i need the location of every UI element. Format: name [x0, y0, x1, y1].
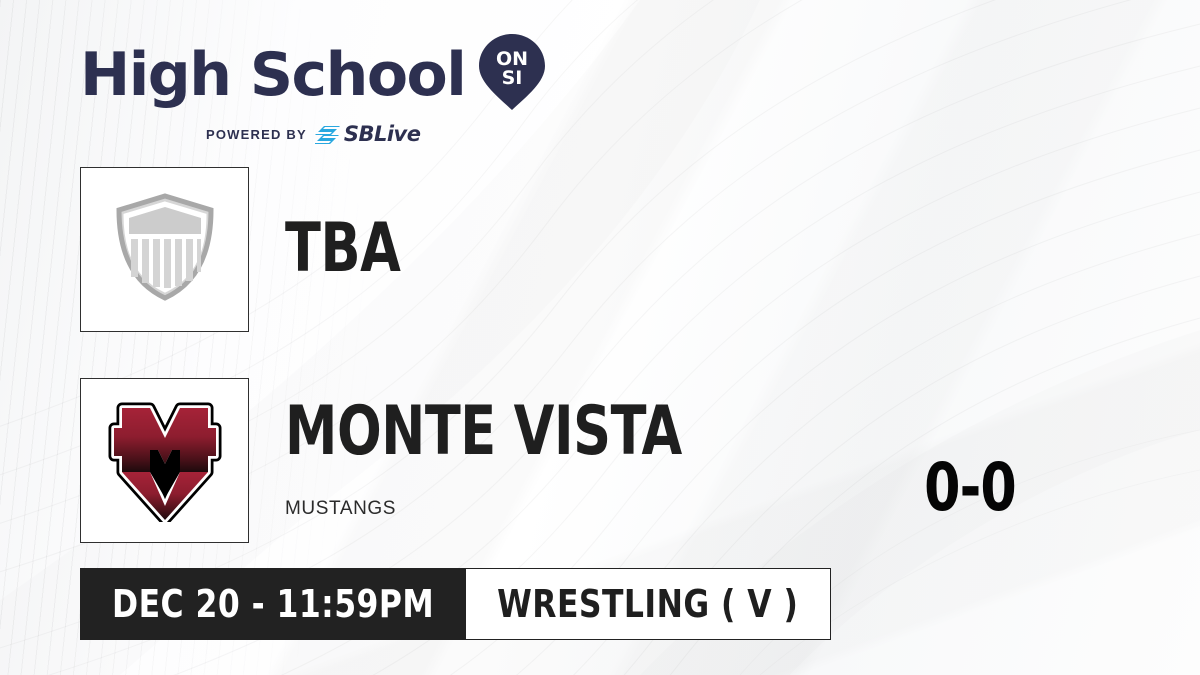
- team-logo-box-home: [80, 378, 249, 543]
- brand-lockup: High School ON SI POWERED BY SBLive: [80, 34, 510, 145]
- team-row-home: MONTE VISTA MUSTANGS: [80, 378, 746, 543]
- on-si-pin-icon: ON SI: [479, 34, 545, 115]
- powered-by-row: POWERED BY SBLive: [80, 124, 510, 145]
- team-logo-box-away: [80, 167, 249, 332]
- team-text-home: MONTE VISTA MUSTANGS: [285, 401, 746, 520]
- sblive-logo: SBLive: [315, 124, 421, 145]
- matchup-graphic: High School ON SI POWERED BY SBLive: [0, 0, 1200, 675]
- sblive-s-icon: [315, 125, 341, 145]
- team-mascot-home: MUSTANGS: [285, 498, 746, 520]
- mv-monogram-svg: [104, 394, 226, 522]
- pin-label-si: SI: [502, 67, 523, 89]
- shield-placeholder-svg: [113, 192, 217, 302]
- team-name-away: TBA: [285, 218, 400, 281]
- powered-by-label: POWERED BY: [206, 127, 307, 142]
- sblive-wordmark: SBLive: [344, 124, 421, 145]
- brand-wordmark: High School: [80, 45, 465, 105]
- game-sport-label: WRESTLING ( V ): [497, 585, 798, 623]
- score-display: 0-0: [873, 455, 1067, 521]
- game-datetime-block: DEC 20 - 11:59PM: [80, 568, 466, 640]
- game-datetime-label: DEC 20 - 11:59PM: [112, 585, 434, 623]
- monte-vista-mv-monogram-icon: [104, 394, 226, 527]
- on-si-pin-svg: ON SI: [479, 34, 545, 110]
- brand-row: High School ON SI: [80, 34, 510, 115]
- team-row-away: TBA: [80, 167, 419, 332]
- team-name-home: MONTE VISTA: [285, 401, 682, 464]
- game-sport-block: WRESTLING ( V ): [466, 568, 830, 640]
- team-text-away: TBA: [285, 218, 419, 281]
- shield-placeholder-icon: [113, 192, 217, 307]
- info-bar: DEC 20 - 11:59PM WRESTLING ( V ): [80, 568, 831, 640]
